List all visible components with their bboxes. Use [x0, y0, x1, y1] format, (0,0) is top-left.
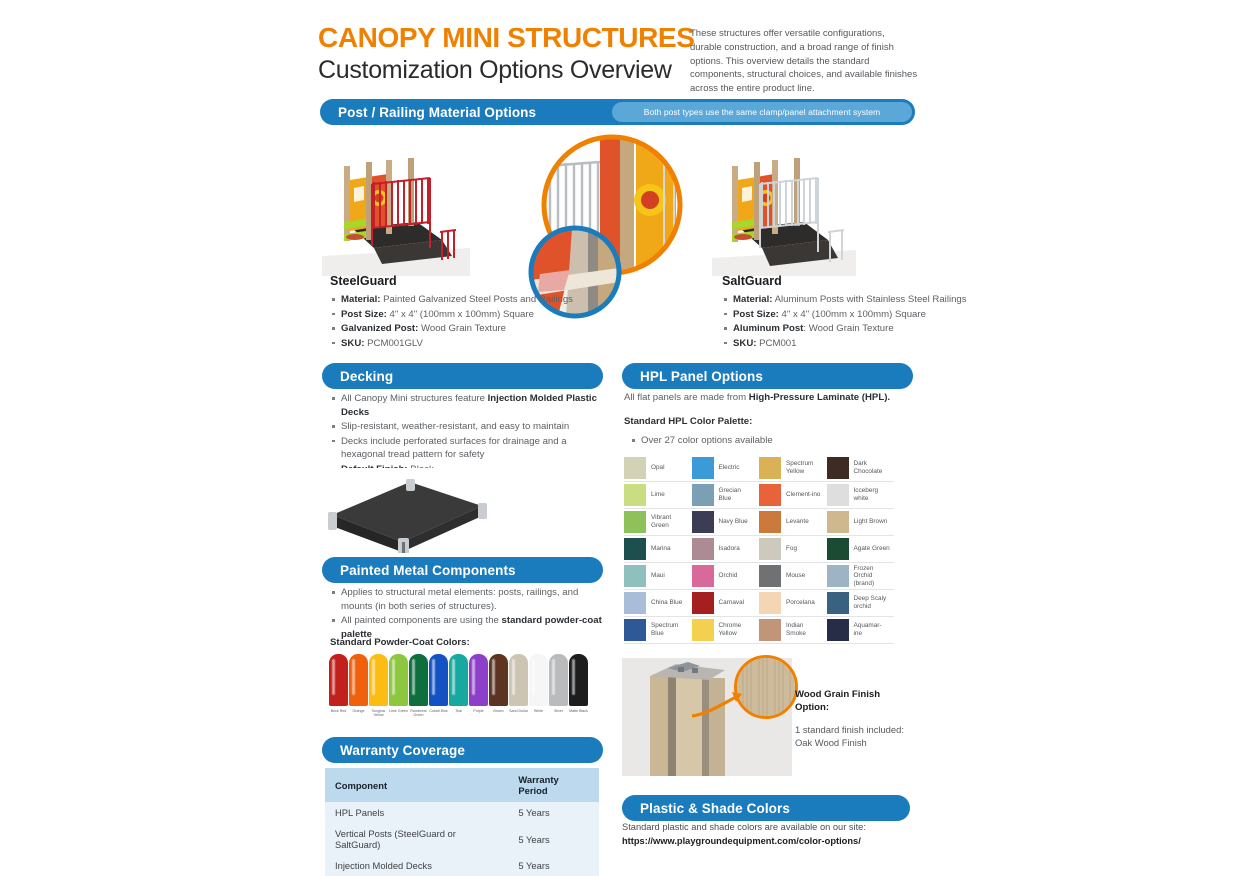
- hpl-color-cell[interactable]: Lime: [624, 482, 692, 509]
- hpl-color-swatch: [827, 484, 849, 506]
- spec-label: Material:: [733, 294, 772, 305]
- hpl-color-swatch: [759, 565, 781, 587]
- hpl-color-name: Agate Green: [854, 545, 890, 553]
- hpl-color-swatch: [624, 565, 646, 587]
- spec-label: Post Size:: [733, 309, 779, 320]
- hpl-color-swatch: [759, 619, 781, 641]
- list-item: Material: Painted Galvanized Steel Posts…: [330, 293, 600, 307]
- hpl-color-swatch: [759, 484, 781, 506]
- list-item: Post Size: 4" x 4" (100mm x 100mm) Squar…: [722, 308, 972, 322]
- hpl-color-name: Aquamar-ine: [854, 622, 891, 637]
- list-item: Aluminum Post: Wood Grain Texture: [722, 322, 972, 336]
- warranty-component-cell: Vertical Posts (SteelGuard or SaltGuard): [325, 823, 508, 855]
- hpl-color-name: Grecian Blue: [719, 487, 756, 502]
- hpl-color-cell[interactable]: Vibrant Green: [624, 509, 692, 536]
- plastic-shade-text: Standard plastic and shade colors are av…: [622, 821, 914, 849]
- hpl-color-name: Orchid: [719, 572, 738, 580]
- hpl-color-cell[interactable]: Navy Blue: [692, 509, 760, 536]
- hpl-color-swatch: [692, 592, 714, 614]
- warranty-period-cell: 5 Years: [508, 823, 599, 855]
- hpl-color-grid: OpalElectricSpectrum YellowDark Chocolat…: [624, 455, 894, 644]
- hpl-color-cell[interactable]: Spectrum Blue: [624, 617, 692, 644]
- hpl-color-swatch: [624, 592, 646, 614]
- table-header-warranty-period: Warranty Period: [508, 768, 599, 802]
- hpl-color-cell[interactable]: Carnaval: [692, 590, 760, 617]
- powder-coat-swatch[interactable]: Silver: [549, 654, 568, 718]
- hpl-color-swatch: [827, 457, 849, 479]
- spec-label: Post Size:: [341, 309, 387, 320]
- list-item: SKU: PCM001: [722, 337, 972, 351]
- hpl-color-name: Porcelana: [786, 599, 815, 607]
- bullet-text: All painted components are using the: [341, 615, 502, 626]
- section-header-painted-metal: Painted Metal Components: [322, 557, 603, 583]
- powder-coat-name: Lime Green: [389, 709, 408, 713]
- hpl-color-name: Icceberg white: [854, 487, 891, 502]
- wood-grain-title: Wood Grain Finish Option:: [795, 688, 905, 715]
- powder-coat-chip: [389, 654, 408, 706]
- warranty-component-cell: Injection Molded Decks: [325, 855, 508, 876]
- spec-value: 4" x 4" (100mm x 100mm) Square: [390, 309, 534, 320]
- hpl-color-cell[interactable]: Spectrum Yellow: [759, 455, 827, 482]
- powder-coat-chip: [569, 654, 588, 706]
- hpl-color-swatch: [624, 457, 646, 479]
- powder-coat-chip: [549, 654, 568, 706]
- spec-value: Wood Grain Texture: [421, 323, 506, 334]
- powder-coat-swatch[interactable]: Lime Green: [389, 654, 408, 718]
- hpl-color-name: Frozen Orchid (brand): [854, 565, 891, 588]
- spec-value: : Wood Grain Texture: [803, 323, 893, 334]
- powder-coat-swatch[interactable]: Rainforest Green: [409, 654, 428, 718]
- list-item: Over 27 color options available: [630, 434, 890, 448]
- hpl-palette-label: Standard HPL Color Palette:: [624, 416, 752, 427]
- hpl-color-cell[interactable]: China Blue: [624, 590, 692, 617]
- hpl-color-name: Light Brown: [854, 518, 888, 526]
- list-item: All Canopy Mini structures feature Injec…: [330, 392, 602, 419]
- decking-bullet-list: All Canopy Mini structures feature Injec…: [330, 392, 602, 478]
- spec-value: PCM001GLV: [367, 338, 423, 349]
- hpl-color-swatch: [759, 511, 781, 533]
- hpl-color-cell[interactable]: Frozen Orchid (brand): [827, 563, 895, 590]
- powder-coat-name: Silver: [554, 709, 563, 713]
- section-title-post-railing: Post / Railing Material Options: [338, 105, 536, 120]
- hpl-color-name: Indian Smoke: [786, 622, 823, 637]
- hpl-color-name: Chrome Yellow: [719, 622, 756, 637]
- powder-coat-chip: [369, 654, 388, 706]
- bullet-text: All Canopy Mini structures feature: [341, 393, 488, 404]
- powder-coat-name: Rainforest Green: [409, 709, 428, 718]
- hpl-color-swatch: [624, 484, 646, 506]
- powder-coat-chip: [349, 654, 368, 706]
- painted-metal-bullet-list: Applies to structural metal elements: po…: [330, 586, 602, 642]
- powder-coat-name: Brick Red: [331, 709, 347, 713]
- hpl-color-cell[interactable]: Isadora: [692, 536, 760, 563]
- list-item: Post Size: 4" x 4" (100mm x 100mm) Squar…: [330, 308, 600, 322]
- powder-coat-palette-label: Standard Powder-Coat Colors:: [330, 637, 470, 648]
- table-header-component: Component: [325, 768, 508, 802]
- hpl-color-name: China Blue: [651, 599, 682, 607]
- hpl-color-cell[interactable]: Fog: [759, 536, 827, 563]
- spec-label: Material:: [341, 294, 380, 305]
- hpl-color-cell[interactable]: Indian Smoke: [759, 617, 827, 644]
- table-row: HPL Panels5 Years: [325, 802, 599, 823]
- spec-label: SKU:: [341, 338, 364, 349]
- hpl-color-swatch: [692, 565, 714, 587]
- hpl-color-name: Maui: [651, 572, 665, 580]
- powder-coat-swatch[interactable]: Brick Red: [329, 654, 348, 718]
- powder-coat-swatch[interactable]: Cobalt Blue: [429, 654, 448, 718]
- powder-coat-name: Sand Dollar: [509, 709, 528, 713]
- hpl-color-name: Dark Chocolate: [854, 460, 891, 475]
- list-item: Galvanized Post: Wood Grain Texture: [330, 322, 600, 336]
- spec-value: PCM001: [759, 338, 796, 349]
- powder-coat-name: Teal: [455, 709, 462, 713]
- hpl-color-cell[interactable]: Clement-ino: [759, 482, 827, 509]
- hpl-color-swatch: [692, 484, 714, 506]
- powder-coat-swatch[interactable]: Brown: [489, 654, 508, 718]
- hpl-color-swatch: [692, 538, 714, 560]
- table-row: Vertical Posts (SteelGuard or SaltGuard)…: [325, 823, 599, 855]
- hpl-color-name: Isadora: [719, 545, 740, 553]
- wood-grain-body: 1 standard finish included: Oak Wood Fin…: [795, 723, 905, 750]
- powder-coat-chip: [449, 654, 468, 706]
- plastic-shade-url[interactable]: https://www.playgroundequipment.com/colo…: [622, 836, 861, 846]
- powder-coat-swatch[interactable]: Matte Black: [569, 654, 588, 718]
- hpl-color-cell[interactable]: Electric: [692, 455, 760, 482]
- hpl-color-name: Fog: [786, 545, 797, 553]
- list-item: SKU: PCM001GLV: [330, 337, 600, 351]
- spec-label: SKU:: [733, 338, 756, 349]
- hpl-color-cell[interactable]: Levante: [759, 509, 827, 536]
- saltguard-spec-list: Material: Aluminum Posts with Stainless …: [722, 293, 972, 350]
- bullet-text: Applies to structural metal elements: po…: [341, 587, 578, 612]
- hpl-color-cell[interactable]: Mouse: [759, 563, 827, 590]
- hpl-color-cell[interactable]: Maui: [624, 563, 692, 590]
- powder-coat-chip: [429, 654, 448, 706]
- hpl-color-name: Levante: [786, 518, 809, 526]
- table-header-row: Component Warranty Period: [325, 768, 599, 802]
- list-item: Material: Aluminum Posts with Stainless …: [722, 293, 972, 307]
- steelguard-product-image: [322, 136, 470, 276]
- hpl-color-swatch: [827, 565, 849, 587]
- hpl-color-cell[interactable]: Grecian Blue: [692, 482, 760, 509]
- powder-coat-name: White: [534, 709, 543, 713]
- hpl-color-name: Spectrum Blue: [651, 622, 688, 637]
- hpl-intro-text: All flat panels are made from High-Press…: [624, 392, 914, 403]
- powder-coat-swatch-row: Brick RedOrangeSunglow YellowLime GreenR…: [329, 654, 588, 718]
- list-item: Slip-resistant, weather-resistant, and e…: [330, 420, 602, 434]
- hpl-color-name: Mouse: [786, 572, 805, 580]
- hpl-color-name: Opal: [651, 464, 665, 472]
- powder-coat-name: Brown: [493, 709, 503, 713]
- hpl-color-cell[interactable]: Marina: [624, 536, 692, 563]
- warranty-period-cell: 5 Years: [508, 855, 599, 876]
- hpl-color-swatch: [624, 619, 646, 641]
- section-header-hpl: HPL Panel Options: [622, 363, 913, 389]
- poster-page: CANOPY MINI STRUCTURES Customization Opt…: [0, 0, 1235, 872]
- steelguard-block: SteelGuard Material: Painted Galvanized …: [330, 274, 600, 351]
- powder-coat-chip: [509, 654, 528, 706]
- powder-coat-name: Sunglow Yellow: [369, 709, 388, 718]
- hpl-color-swatch: [692, 619, 714, 641]
- hpl-bullet-list: Over 27 color options available: [630, 434, 890, 449]
- powder-coat-swatch[interactable]: White: [529, 654, 548, 718]
- saltguard-block: SaltGuard Material: Aluminum Posts with …: [722, 274, 972, 351]
- powder-coat-swatch[interactable]: Orange: [349, 654, 368, 718]
- saltguard-title: SaltGuard: [722, 274, 972, 288]
- post-railing-note-text: Both post types use the same clamp/panel…: [644, 107, 880, 117]
- powder-coat-name: Orange: [353, 709, 365, 713]
- section-title-painted-metal: Painted Metal Components: [340, 563, 516, 578]
- spec-value: 4" x 4" (100mm x 100mm) Square: [782, 309, 926, 320]
- hpl-color-name: Carnaval: [719, 599, 745, 607]
- bullet-text: Over 27 color options available: [641, 435, 773, 446]
- steelguard-illustration: [322, 136, 470, 276]
- powder-coat-name: Purple: [473, 709, 483, 713]
- powder-coat-chip: [329, 654, 348, 706]
- hpl-color-cell[interactable]: Opal: [624, 455, 692, 482]
- hpl-color-cell[interactable]: Light Brown: [827, 509, 895, 536]
- hpl-color-name: Navy Blue: [719, 518, 748, 526]
- section-header-warranty: Warranty Coverage: [322, 737, 603, 763]
- hpl-color-name: Clement-ino: [786, 491, 820, 499]
- hpl-color-name: Marina: [651, 545, 671, 553]
- warranty-table: Component Warranty Period HPL Panels5 Ye…: [325, 768, 599, 876]
- hpl-color-swatch: [827, 511, 849, 533]
- powder-coat-swatch[interactable]: Purple: [469, 654, 488, 718]
- hpl-color-name: Deep Scaly orchid: [854, 595, 891, 610]
- powder-coat-chip: [469, 654, 488, 706]
- hpl-color-swatch: [759, 538, 781, 560]
- section-title-warranty: Warranty Coverage: [340, 743, 465, 758]
- powder-coat-swatch[interactable]: Sunglow Yellow: [369, 654, 388, 718]
- list-item: Applies to structural metal elements: po…: [330, 586, 602, 613]
- hpl-color-cell[interactable]: Chrome Yellow: [692, 617, 760, 644]
- hpl-color-name: Electric: [719, 464, 740, 472]
- powder-coat-name: Matte Black: [569, 709, 588, 713]
- hpl-color-swatch: [624, 511, 646, 533]
- hpl-color-cell[interactable]: Deep Scaly orchid: [827, 590, 895, 617]
- wood-grain-arrow-icon: [690, 688, 750, 720]
- header-description: These structures offer versatile configu…: [690, 27, 918, 96]
- warranty-period-cell: 5 Years: [508, 802, 599, 823]
- hpl-color-cell[interactable]: Orchid: [692, 563, 760, 590]
- powder-coat-swatch[interactable]: Teal: [449, 654, 468, 718]
- hpl-color-swatch: [759, 592, 781, 614]
- spec-label: Galvanized Post:: [341, 323, 418, 334]
- section-title-hpl: HPL Panel Options: [640, 369, 763, 384]
- warranty-component-cell: HPL Panels: [325, 802, 508, 823]
- decking-product-image: [322, 468, 502, 553]
- section-title-decking: Decking: [340, 369, 393, 384]
- wood-grain-text-block: Wood Grain Finish Option: 1 standard fin…: [795, 688, 905, 750]
- spec-value: Aluminum Posts with Stainless Steel Rail…: [775, 294, 967, 305]
- list-item: Decks include perforated surfaces for dr…: [330, 435, 602, 462]
- powder-coat-name: Cobalt Blue: [429, 709, 448, 713]
- hpl-color-cell[interactable]: Dark Chocolate: [827, 455, 895, 482]
- hpl-color-swatch: [827, 538, 849, 560]
- hpl-color-swatch: [827, 592, 849, 614]
- hpl-color-name: Spectrum Yellow: [786, 460, 823, 475]
- deck-illustration: [322, 468, 502, 553]
- section-title-plastic-shade: Plastic & Shade Colors: [640, 801, 790, 816]
- hpl-palette-label-text: Standard HPL Color Palette:: [624, 416, 752, 427]
- powder-coat-palette-label-text: Standard Powder-Coat Colors:: [330, 637, 470, 648]
- post-railing-note-badge: Both post types use the same clamp/panel…: [612, 102, 912, 122]
- section-header-plastic-shade: Plastic & Shade Colors: [622, 795, 910, 821]
- saltguard-illustration: [712, 136, 856, 276]
- hpl-color-swatch: [759, 457, 781, 479]
- hpl-intro-bold: High-Pressure Laminate (HPL).: [749, 392, 890, 403]
- steelguard-spec-list: Material: Painted Galvanized Steel Posts…: [330, 293, 600, 350]
- spec-value: Painted Galvanized Steel Posts and Raili…: [383, 294, 573, 305]
- powder-coat-chip: [409, 654, 428, 706]
- bullet-text: Decks include perforated surfaces for dr…: [341, 436, 567, 461]
- hpl-color-cell[interactable]: Porcelana: [759, 590, 827, 617]
- hpl-color-swatch: [692, 457, 714, 479]
- hpl-color-swatch: [827, 619, 849, 641]
- powder-coat-chip: [529, 654, 548, 706]
- powder-coat-chip: [489, 654, 508, 706]
- hpl-color-cell[interactable]: Aquamar-ine: [827, 617, 895, 644]
- powder-coat-swatch[interactable]: Sand Dollar: [509, 654, 528, 718]
- hpl-color-name: Vibrant Green: [651, 514, 688, 529]
- hpl-color-name: Lime: [651, 491, 665, 499]
- spec-label: Aluminum Post: [733, 323, 803, 334]
- hpl-intro-pre: All flat panels are made from: [624, 392, 749, 403]
- steelguard-title: SteelGuard: [330, 274, 600, 288]
- plastic-shade-line1: Standard plastic and shade colors are av…: [622, 822, 866, 832]
- hpl-color-cell[interactable]: Icceberg white: [827, 482, 895, 509]
- table-row: Injection Molded Decks5 Years: [325, 855, 599, 876]
- hpl-color-swatch: [624, 538, 646, 560]
- hpl-color-swatch: [692, 511, 714, 533]
- section-header-decking: Decking: [322, 363, 603, 389]
- saltguard-product-image: [712, 136, 856, 276]
- hpl-color-cell[interactable]: Agate Green: [827, 536, 895, 563]
- bullet-text: Slip-resistant, weather-resistant, and e…: [341, 421, 569, 432]
